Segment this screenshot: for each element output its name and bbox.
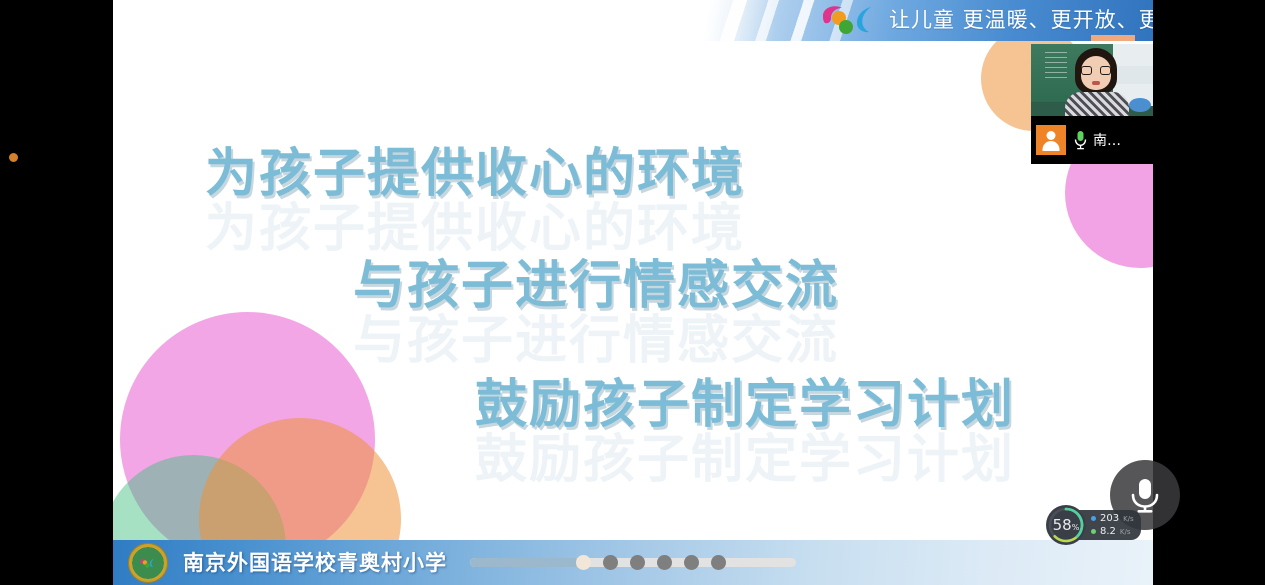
banner-accent (1091, 35, 1135, 41)
slide-headline-2: 与孩子进行情感交流 (353, 243, 839, 318)
pager-dot[interactable] (603, 555, 618, 570)
video-person-mouth (1092, 81, 1100, 85)
network-upload-value: 203 (1100, 513, 1119, 524)
person-avatar-icon (1036, 125, 1066, 155)
participant-name-label: 南… (1093, 130, 1121, 150)
video-person-glasses (1081, 66, 1111, 75)
slide-header-banner: 让儿童 更温暖、更开放、更 (613, 0, 1153, 41)
banner-slogan: 让儿童 更温暖、更开放、更 (889, 6, 1153, 34)
slide-footer-bar: 南京外国语学校青奥村小学 (113, 540, 1153, 585)
network-quality-gauge: 58% (1046, 505, 1086, 545)
video-background-object (1129, 98, 1151, 112)
video-person-body (1065, 92, 1129, 116)
network-upload-row: 203 K/s (1091, 513, 1134, 524)
pager-dot[interactable] (684, 555, 699, 570)
slide-pager-dots[interactable] (470, 553, 796, 573)
slide-headline-3: 鼓励孩子制定学习计划 (475, 362, 1015, 437)
network-quality-value: 58% (1053, 516, 1080, 534)
video-board-writing (1045, 52, 1067, 82)
arrow-up-icon (1091, 516, 1096, 521)
pager-dot[interactable] (630, 555, 645, 570)
slide-headline-1: 为孩子提供收心的环境 (205, 131, 745, 206)
pager-dot[interactable] (576, 555, 591, 570)
participant-video-tile[interactable] (1031, 44, 1153, 116)
slide-canvas: 让儿童 更温暖、更开放、更 为孩子提供收心的环境 与孩子进行情感交流 鼓励孩子制… (113, 0, 1153, 585)
pager-dot[interactable] (657, 555, 672, 570)
network-download-value: 8.2 (1100, 526, 1116, 537)
banner-white-wedge (613, 0, 773, 41)
network-download-unit: K/s (1120, 528, 1131, 536)
school-logo-icon (819, 4, 883, 35)
arrow-down-icon (1091, 529, 1096, 534)
participant-list-item[interactable]: 南… (1031, 116, 1153, 164)
status-dot-icon (9, 153, 18, 162)
network-upload-unit: K/s (1123, 515, 1134, 523)
network-stats-overlay[interactable]: 58% 203 K/s 8.2 K/s (1046, 505, 1141, 545)
avatar-body (1043, 141, 1060, 151)
network-rates: 203 K/s 8.2 K/s (1078, 510, 1141, 540)
screen-share-viewer: 让儿童 更温暖、更开放、更 为孩子提供收心的环境 与孩子进行情感交流 鼓励孩子制… (0, 0, 1265, 585)
avatar-head (1047, 131, 1056, 140)
microphone-icon[interactable] (1073, 130, 1088, 150)
video-background-wall-shade (1113, 66, 1153, 84)
pager-dot[interactable] (711, 555, 726, 570)
school-emblem-icon (128, 543, 168, 583)
network-download-row: 8.2 K/s (1091, 526, 1134, 537)
school-name-label: 南京外国语学校青奥村小学 (183, 549, 447, 577)
